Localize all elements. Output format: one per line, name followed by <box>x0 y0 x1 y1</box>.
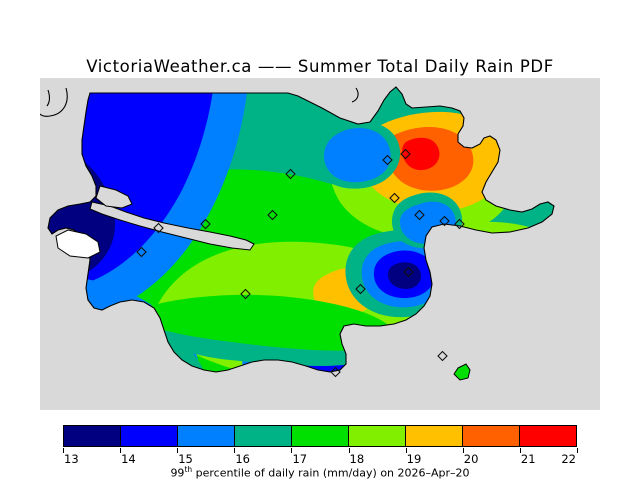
colorbar-caption: 99th percentile of daily rain (mm/day) o… <box>0 465 640 480</box>
colorbar-segment-18-19 <box>349 426 406 446</box>
colorbar-ticks: 13141516171819202122 <box>63 448 577 462</box>
colorbar-tick-label: 20 <box>464 452 479 466</box>
colorbar-segment-15-16 <box>178 426 235 446</box>
colorbar-tick-label: 17 <box>292 452 307 466</box>
page-title: VictoriaWeather.ca —— Summer Total Daily… <box>0 57 640 76</box>
colorbar <box>63 425 577 447</box>
colorbar-segment-17-18 <box>292 426 349 446</box>
colorbar-segment-20-21 <box>463 426 520 446</box>
colorbar-panel: 13141516171819202122 99th percentile of … <box>0 425 640 480</box>
colorbar-tick-label: 19 <box>407 452 422 466</box>
colorbar-tick-label: 14 <box>121 452 136 466</box>
colorbar-segment-16-17 <box>235 426 292 446</box>
colorbar-tick-label: 15 <box>178 452 193 466</box>
weather-map-page: VictoriaWeather.ca —— Summer Total Daily… <box>0 0 640 480</box>
contour-map <box>40 78 600 410</box>
colorbar-tick-label: 18 <box>350 452 365 466</box>
caption-rest: percentile of daily rain (mm/day) on 202… <box>192 467 469 480</box>
colorbar-segment-14-15 <box>121 426 178 446</box>
colorbar-tick-label: 13 <box>64 452 79 466</box>
colorbar-tick-label: 21 <box>521 452 536 466</box>
contour-map-panel <box>40 78 600 410</box>
caption-prefix: 99 <box>170 467 184 480</box>
colorbar-tick-label: 22 <box>561 452 576 466</box>
contour-band-15-16-north-low <box>324 128 391 182</box>
colorbar-segment-21-22 <box>520 426 576 446</box>
colorbar-segment-19-20 <box>406 426 463 446</box>
colorbar-tick <box>577 448 578 453</box>
colorbar-tick-label: 16 <box>235 452 250 466</box>
colorbar-segment-13-14 <box>64 426 121 446</box>
caption-superscript: th <box>184 465 192 474</box>
